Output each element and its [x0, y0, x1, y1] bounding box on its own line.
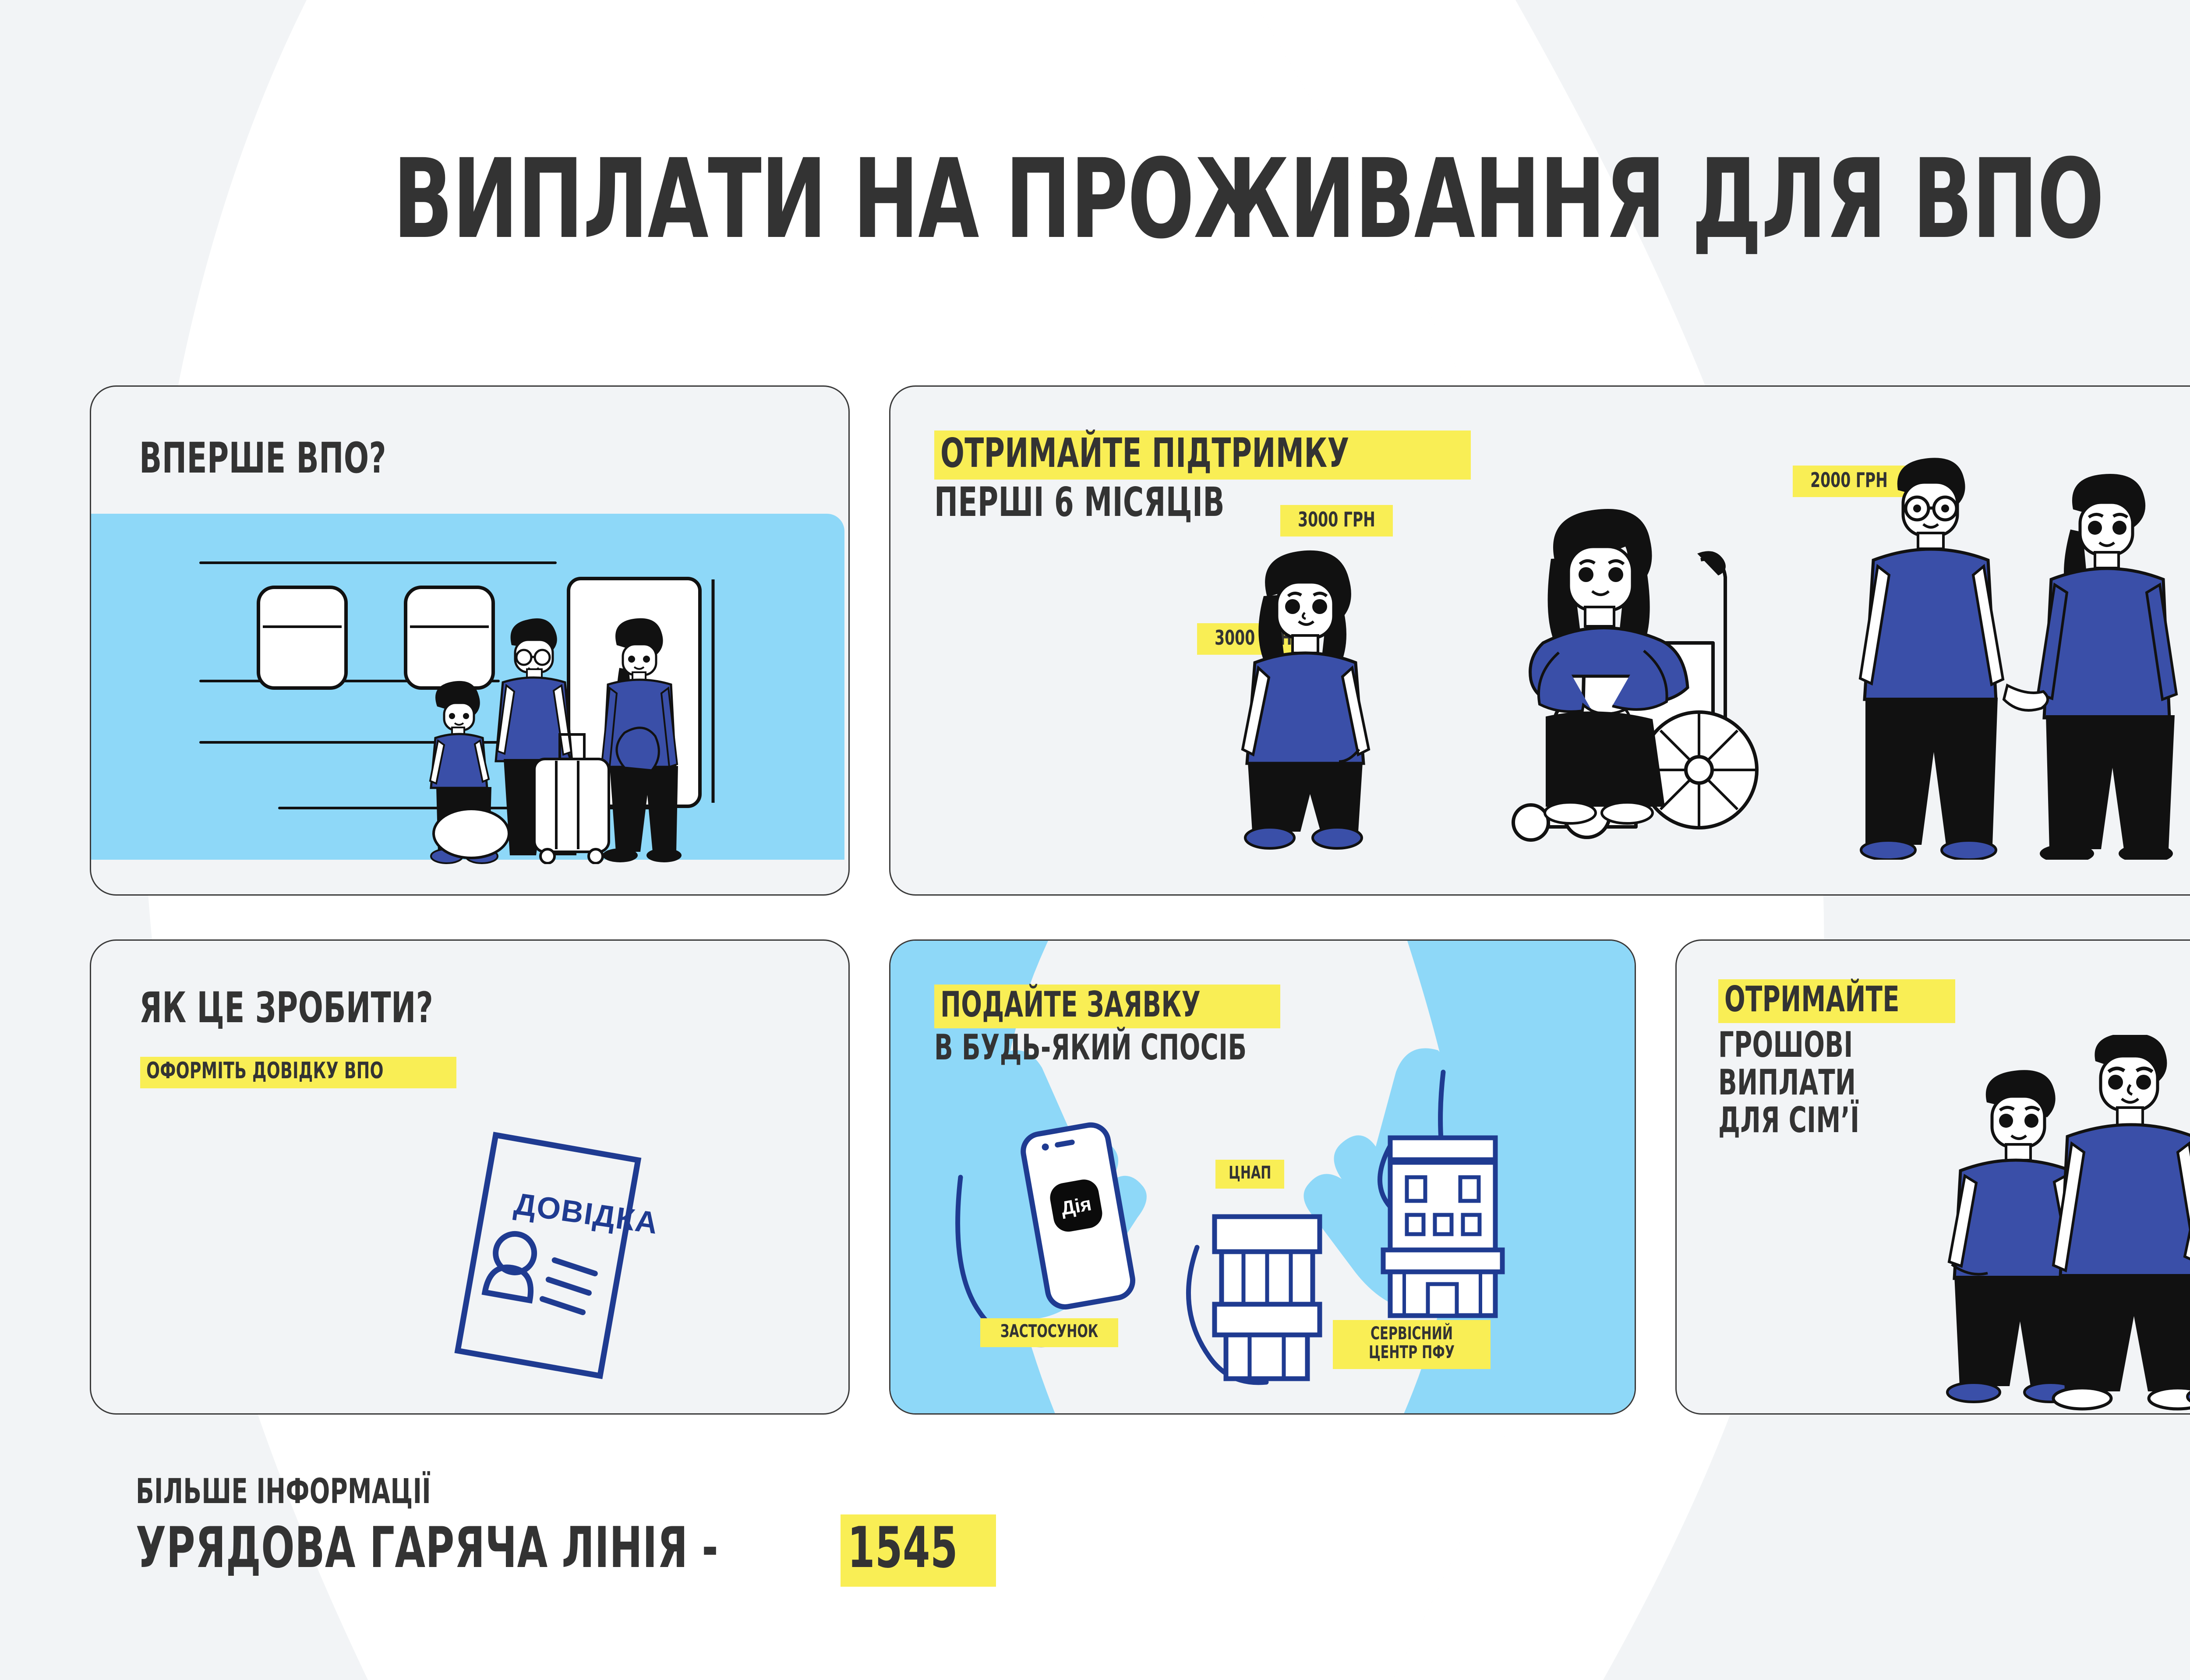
card-support-title-plain: ПЕРШІ 6 МІСЯЦІВ: [934, 482, 1307, 522]
pfu-building-icon: [1370, 1129, 1515, 1322]
adult-couple-illustration: [1837, 444, 2190, 860]
card-receive-title-highlight: ОТРИМАЙТЕ: [1718, 979, 1955, 1023]
card-apply-title-plain-text: В БУДЬ-ЯКИЙ СПОСІБ: [934, 1030, 1247, 1065]
footer-hotline: УРЯДОВА ГАРЯЧА ЛІНІЯ -1545: [136, 1514, 996, 1587]
card-receive-line-1: ГРОШОВІ: [1718, 1027, 1955, 1062]
card-how-to-title: ЯК ЦЕ ЗРОБИТИ?: [139, 987, 516, 1029]
card-first-time-idp: ВПЕРШЕ ВПО?: [90, 385, 850, 896]
card-how-to: ЯК ЦЕ ЗРОБИТИ? ОФОРМІТЬ ДОВІДКУ ВПО ДОВІ…: [90, 939, 850, 1415]
card-receive-line-3: ДЛЯ СІМ’Ї: [1718, 1103, 1955, 1138]
child-standing-illustration: [1215, 531, 1399, 855]
channel-label-pfu: СЕРВІСНИЙ ЦЕНТР ПФУ: [1333, 1320, 1491, 1369]
family-at-train-illustration: [91, 514, 844, 864]
card-receive-line-2: ВИПЛАТИ: [1718, 1065, 1955, 1100]
card-receive-title: ОТРИМАЙТЕ ГРОШОВІ ВИПЛАТИ ДЛЯ СІМ’Ї: [1718, 979, 1955, 1138]
card-support-title-plain-text: ПЕРШІ 6 МІСЯЦІВ: [934, 482, 1225, 522]
page-title: ВИПЛАТИ НА ПРОЖИВАННЯ ДЛЯ ВПО: [0, 145, 2190, 254]
channel-label-app: ЗАСТОСУНОК: [980, 1318, 1118, 1347]
family-of-four-illustration: [1939, 1035, 2190, 1412]
card-how-to-title-text: ЯК ЦЕ ЗРОБИТИ?: [139, 987, 433, 1029]
person-in-wheelchair-illustration: [1455, 498, 1788, 849]
channel-label-cnap: ЦНАП: [1215, 1160, 1284, 1189]
footer-hotline-number: 1545: [848, 1515, 958, 1581]
card-first-time-title-text: ВПЕРШЕ ВПО?: [139, 437, 386, 479]
footer-more-info: БІЛЬШЕ ІНФОРМАЦІЇ: [136, 1472, 514, 1511]
card-apply: ПОДАЙТЕ ЗАЯВКУ В БУДЬ-ЯКИЙ СПОСІБ Дія ЗА…: [889, 939, 1636, 1415]
card-receive-title-highlight-text: ОТРИМАЙТЕ: [1724, 982, 1900, 1017]
card-receive: ОТРИМАЙТЕ ГРОШОВІ ВИПЛАТИ ДЛЯ СІМ’Ї: [1675, 939, 2190, 1415]
card-apply-title-plain: В БУДЬ-ЯКИЙ СПОСІБ: [934, 1030, 1335, 1065]
cnap-building-icon: [1197, 1208, 1337, 1383]
card-apply-title-highlight: ПОДАЙТЕ ЗАЯВКУ: [934, 985, 1280, 1028]
idp-certificate-illustration: ДОВІДКА: [398, 1120, 704, 1405]
card-support: ОТРИМАЙТЕ ПІДТРИМКУ ПЕРШІ 6 МІСЯЦІВ 3000…: [889, 385, 2190, 896]
card-how-to-highlight: ОФОРМІТЬ ДОВІДКУ ВПО: [140, 1057, 456, 1088]
card-apply-title-highlight-text: ПОДАЙТЕ ЗАЯВКУ: [940, 987, 1201, 1022]
card-first-time-title: ВПЕРШЕ ВПО?: [139, 437, 456, 480]
card-how-to-highlight-text: ОФОРМІТЬ ДОВІДКУ ВПО: [146, 1059, 384, 1082]
card-support-title-highlight-text: ОТРИМАЙТЕ ПІДТРИМКУ: [940, 433, 1349, 473]
footer-more-info-text: БІЛЬШЕ ІНФОРМАЦІЇ: [136, 1472, 431, 1511]
footer-hotline-number-badge[interactable]: 1545: [841, 1514, 996, 1587]
footer: БІЛЬШЕ ІНФОРМАЦІЇ УРЯДОВА ГАРЯЧА ЛІНІЯ -…: [0, 1458, 2190, 1642]
footer-hotline-label: УРЯДОВА ГАРЯЧА ЛІНІЯ -: [136, 1515, 718, 1581]
page-title-text: ВИПЛАТИ НА ПРОЖИВАННЯ ДЛЯ ВПО: [393, 145, 2103, 254]
card-support-title-highlight: ОТРИМАЙТЕ ПІДТРИМКУ: [934, 431, 1471, 480]
phone-diia-icon: Дія: [1000, 1116, 1149, 1326]
